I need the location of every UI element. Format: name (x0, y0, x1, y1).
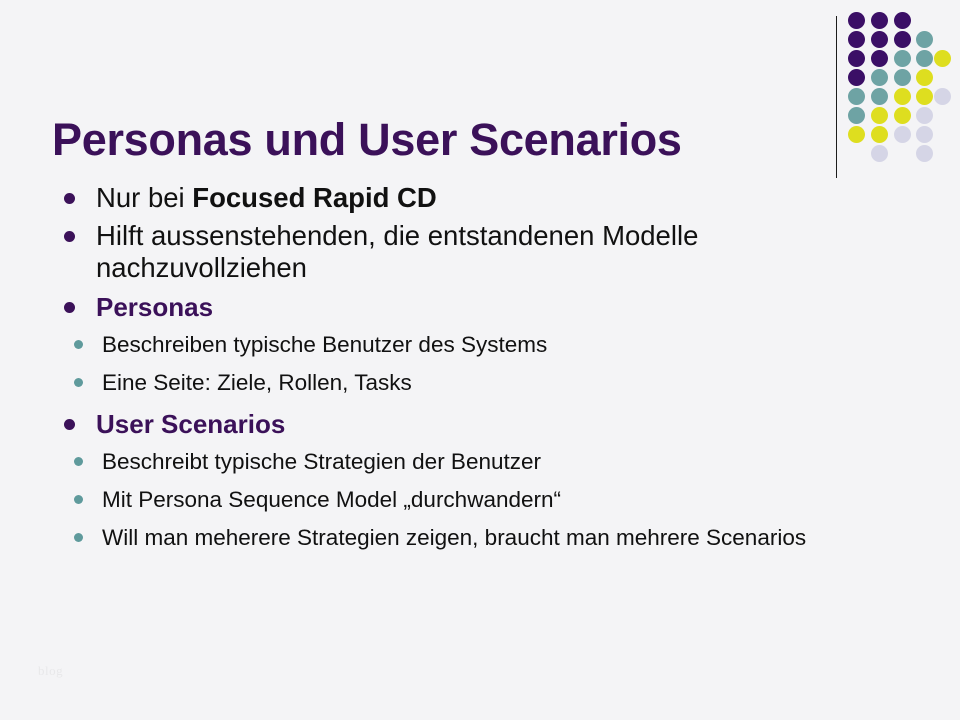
bullet-list-level2: Beschreiben typische Benutzer des System… (56, 331, 896, 396)
decorative-dot (894, 107, 911, 124)
slide-canvas: Personas und User Scenarios Nur bei Focu… (0, 0, 960, 720)
bullet-sublist-wrapper: Beschreibt typische Strategien der Benut… (56, 448, 896, 551)
decorative-dot (871, 88, 888, 105)
decorative-dot (894, 126, 911, 143)
bullet-text: Nur bei Focused Rapid CD (96, 182, 437, 213)
decorative-dot (871, 50, 888, 67)
bullet-item-level2: Beschreibt typische Strategien der Benut… (56, 448, 896, 475)
bullet-list-level2: Beschreibt typische Strategien der Benut… (56, 448, 896, 551)
decorative-dot (871, 31, 888, 48)
sub-bullet-marker-icon (74, 378, 83, 387)
sub-bullet-text: Mit Persona Sequence Model „durchwandern… (102, 487, 561, 512)
decorative-dot (871, 107, 888, 124)
decorative-dot (848, 88, 865, 105)
decorative-dot (894, 88, 911, 105)
bullet-item-level2: Eine Seite: Ziele, Rollen, Tasks (56, 369, 896, 396)
decorative-dot (848, 12, 865, 29)
decorative-dot (871, 126, 888, 143)
decorative-dot (916, 88, 933, 105)
bullet-item-level1: User Scenarios (56, 408, 896, 440)
sub-bullet-text: Beschreibt typische Strategien der Benut… (102, 449, 541, 474)
bullet-item-level1: Personas (56, 291, 896, 323)
decorative-dot (848, 126, 865, 143)
decorative-dot (916, 126, 933, 143)
bullet-content: Nur bei Focused Rapid CDHilft aussensteh… (56, 182, 896, 563)
decorative-dot (934, 50, 951, 67)
bullet-item-level2: Mit Persona Sequence Model „durchwandern… (56, 486, 896, 513)
bullet-marker-icon (64, 419, 75, 430)
sub-bullet-text: Beschreiben typische Benutzer des System… (102, 332, 547, 357)
bullet-sublist-wrapper: Beschreiben typische Benutzer des System… (56, 331, 896, 396)
decorative-dot (934, 88, 951, 105)
bullet-marker-icon (64, 193, 75, 204)
decorative-dot-motif (836, 12, 960, 177)
decorative-dot (916, 31, 933, 48)
bullet-item-level2: Will man meherere Strategien zeigen, bra… (56, 524, 896, 551)
decorative-dot (871, 145, 888, 162)
decorative-dot (916, 107, 933, 124)
vertical-divider-line (836, 16, 837, 178)
decorative-dot (848, 69, 865, 86)
decorative-dot (871, 12, 888, 29)
sub-bullet-text: Will man meherere Strategien zeigen, bra… (102, 525, 806, 550)
bullet-text: Hilft aussenstehenden, die entstandenen … (96, 220, 698, 283)
decorative-dot (848, 50, 865, 67)
sub-bullet-marker-icon (74, 533, 83, 542)
sub-bullet-text: Eine Seite: Ziele, Rollen, Tasks (102, 370, 412, 395)
bullet-item-level1: Hilft aussenstehenden, die entstandenen … (56, 220, 896, 284)
bullet-item-level2: Beschreiben typische Benutzer des System… (56, 331, 896, 358)
bullet-text: Personas (96, 292, 213, 322)
decorative-dot (894, 69, 911, 86)
sub-bullet-marker-icon (74, 495, 83, 504)
footer-watermark: blog (38, 663, 63, 679)
bullet-marker-icon (64, 231, 75, 242)
bullet-text-emphasis: Focused Rapid CD (192, 182, 436, 213)
page-title: Personas und User Scenarios (52, 116, 822, 163)
decorative-dot (848, 31, 865, 48)
sub-bullet-marker-icon (74, 340, 83, 349)
decorative-dot (871, 69, 888, 86)
bullet-marker-icon (64, 302, 75, 313)
dot-grid (848, 12, 960, 177)
decorative-dot (916, 69, 933, 86)
bullet-list-level1: Nur bei Focused Rapid CDHilft aussensteh… (56, 182, 896, 551)
decorative-dot (916, 50, 933, 67)
decorative-dot (894, 12, 911, 29)
decorative-dot (848, 107, 865, 124)
bullet-text: User Scenarios (96, 409, 285, 439)
decorative-dot (916, 145, 933, 162)
decorative-dot (894, 50, 911, 67)
sub-bullet-marker-icon (74, 457, 83, 466)
decorative-dot (894, 31, 911, 48)
bullet-item-level1: Nur bei Focused Rapid CD (56, 182, 896, 214)
